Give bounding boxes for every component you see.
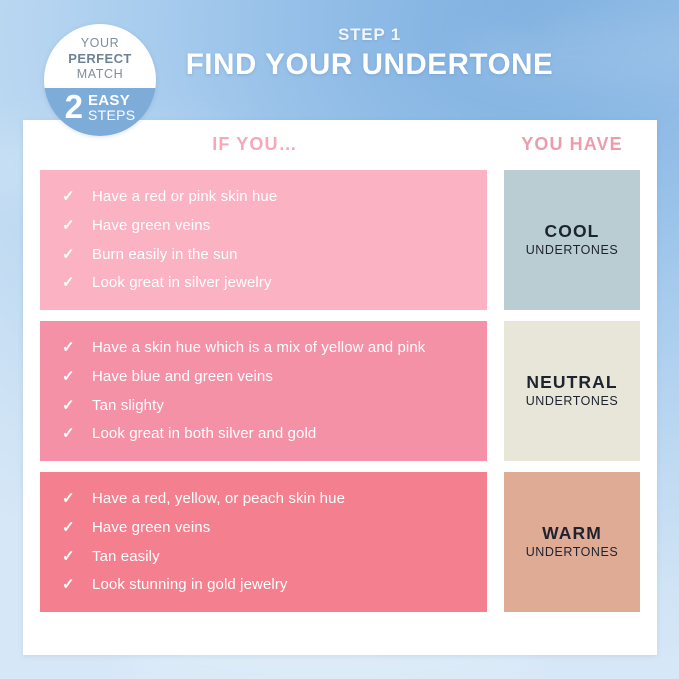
criteria-label: Tan slighty [92, 395, 164, 417]
criteria-panel: ✓Have a red, yellow, or peach skin hue✓H… [40, 472, 487, 612]
undertone-swatch: WARMUNDERTONES [504, 472, 640, 612]
badge-word-steps: STEPS [88, 108, 135, 123]
checkmark-icon: ✓ [62, 215, 84, 237]
badge-line-2: PERFECT [68, 51, 131, 67]
checkmark-icon: ✓ [62, 244, 84, 266]
criteria-panel: ✓Have a red or pink skin hue✓Have green … [40, 170, 487, 310]
undertone-name: WARM [542, 523, 602, 544]
criteria-label: Have green veins [92, 517, 210, 539]
checkmark-icon: ✓ [62, 423, 84, 445]
criteria-label: Have blue and green veins [92, 366, 273, 388]
checkmark-icon: ✓ [62, 272, 84, 294]
checkmark-icon: ✓ [62, 517, 84, 539]
badge-line-3: MATCH [77, 67, 124, 82]
criteria-item: ✓Have a red or pink skin hue [62, 186, 469, 208]
criteria-label: Have a red, yellow, or peach skin hue [92, 488, 345, 510]
perfect-match-badge: YOUR PERFECT MATCH 2 EASY STEPS [44, 24, 156, 136]
criteria-item: ✓Look great in both silver and gold [62, 423, 469, 445]
badge-bottom-half: 2 EASY STEPS [44, 88, 156, 136]
undertone-infographic: STEP 1 FIND YOUR UNDERTONE YOUR PERFECT … [0, 0, 679, 679]
undertone-row: ✓Have a red, yellow, or peach skin hue✓H… [40, 472, 640, 612]
badge-step-count: 2 [65, 91, 83, 122]
criteria-label: Look great in silver jewelry [92, 272, 272, 294]
undertone-name: COOL [545, 221, 600, 242]
criteria-item: ✓Look great in silver jewelry [62, 272, 469, 294]
criteria-item: ✓Have a red, yellow, or peach skin hue [62, 488, 469, 510]
criteria-panel: ✓Have a skin hue which is a mix of yello… [40, 321, 487, 461]
column-header-if-you: IF YOU… [23, 134, 487, 155]
criteria-label: Look stunning in gold jewelry [92, 574, 288, 596]
undertone-row: ✓Have a skin hue which is a mix of yello… [40, 321, 640, 461]
column-headers: IF YOU… YOU HAVE [23, 134, 657, 162]
badge-word-easy: EASY [88, 93, 130, 108]
undertone-swatch: NEUTRALUNDERTONES [504, 321, 640, 461]
undertone-sublabel: UNDERTONES [526, 243, 619, 259]
criteria-item: ✓Have a skin hue which is a mix of yello… [62, 337, 469, 359]
undertone-sublabel: UNDERTONES [526, 545, 619, 561]
content-card: IF YOU… YOU HAVE ✓Have a red or pink ski… [23, 120, 657, 655]
checkmark-icon: ✓ [62, 395, 84, 417]
criteria-label: Have green veins [92, 215, 210, 237]
undertone-name: NEUTRAL [526, 372, 617, 393]
criteria-item: ✓Have green veins [62, 215, 469, 237]
criteria-item: ✓Burn easily in the sun [62, 244, 469, 266]
undertone-swatch: COOLUNDERTONES [504, 170, 640, 310]
checkmark-icon: ✓ [62, 488, 84, 510]
checkmark-icon: ✓ [62, 546, 84, 568]
criteria-item: ✓Look stunning in gold jewelry [62, 574, 469, 596]
badge-step-words: EASY STEPS [88, 91, 135, 123]
checkmark-icon: ✓ [62, 574, 84, 596]
badge-top-half: YOUR PERFECT MATCH [44, 24, 156, 88]
criteria-label: Look great in both silver and gold [92, 423, 316, 445]
undertone-row: ✓Have a red or pink skin hue✓Have green … [40, 170, 640, 310]
checkmark-icon: ✓ [62, 366, 84, 388]
checkmark-icon: ✓ [62, 337, 84, 359]
criteria-label: Have a red or pink skin hue [92, 186, 277, 208]
criteria-item: ✓Tan easily [62, 546, 469, 568]
criteria-label: Tan easily [92, 546, 160, 568]
undertone-rows: ✓Have a red or pink skin hue✓Have green … [40, 170, 640, 612]
column-header-you-have: YOU HAVE [487, 134, 657, 155]
criteria-label: Burn easily in the sun [92, 244, 238, 266]
badge-line-1: YOUR [81, 36, 120, 51]
criteria-item: ✓Have green veins [62, 517, 469, 539]
criteria-item: ✓Tan slighty [62, 395, 469, 417]
checkmark-icon: ✓ [62, 186, 84, 208]
criteria-item: ✓Have blue and green veins [62, 366, 469, 388]
undertone-sublabel: UNDERTONES [526, 394, 619, 410]
criteria-label: Have a skin hue which is a mix of yellow… [92, 337, 425, 359]
